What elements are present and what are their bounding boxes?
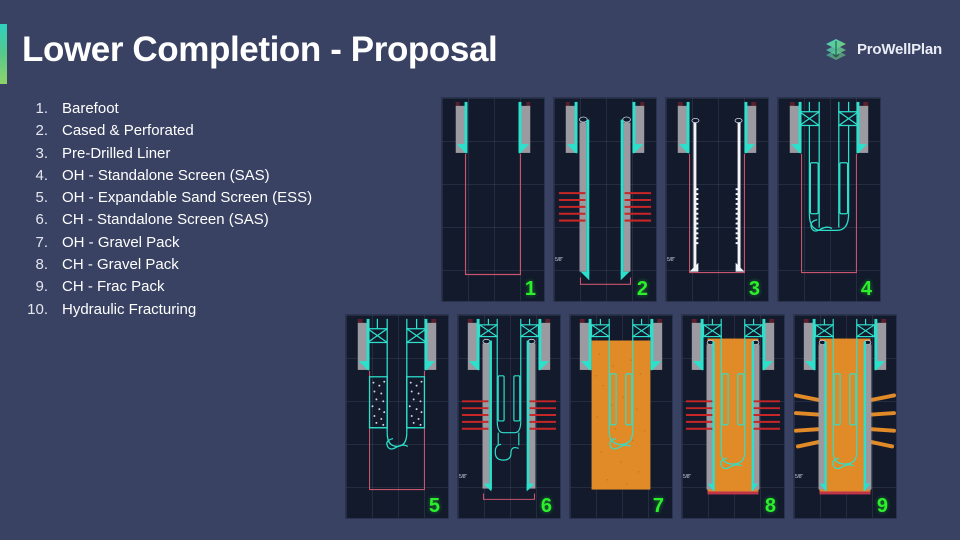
diagram-row-top: 1 — [441, 97, 881, 302]
panel-number: 7 — [653, 496, 664, 516]
panel-number: 6 — [541, 496, 552, 516]
list-item[interactable]: 9.CH - Frac Pack — [22, 278, 422, 300]
list-item-number: 10. — [22, 301, 62, 318]
diagram-panel-barefoot[interactable]: 1 — [441, 97, 545, 302]
panel-number: 4 — [861, 279, 872, 299]
list-item-label: OH - Expandable Sand Screen (ESS) — [62, 189, 312, 206]
list-item[interactable]: 1.Barefoot — [22, 100, 422, 122]
list-item-number: 8. — [22, 256, 62, 273]
title-accent-bar — [0, 24, 7, 84]
diagram-panel-ch-frac-pack[interactable]: 5/8" 9 — [793, 314, 897, 519]
list-item-number: 6. — [22, 211, 62, 228]
wellbore-schematic-oh-gravel-pack — [570, 315, 672, 516]
wellbore-schematic-ch-sas — [458, 315, 560, 516]
logo-text: ProWellPlan — [857, 41, 942, 58]
panel-number: 3 — [749, 279, 760, 299]
wellbore-schematic-ch-frac-pack — [794, 315, 896, 516]
list-item[interactable]: 2.Cased & Perforated — [22, 122, 422, 144]
list-item-number: 9. — [22, 278, 62, 295]
list-item-number: 1. — [22, 100, 62, 117]
list-item-label: CH - Gravel Pack — [62, 256, 179, 273]
list-item[interactable]: 5.OH - Expandable Sand Screen (ESS) — [22, 189, 422, 211]
panel-number: 1 — [525, 279, 536, 299]
panel-number: 9 — [877, 496, 888, 516]
completion-options-list: 1.Barefoot 2.Cased & Perforated 3.Pre-Dr… — [22, 100, 422, 323]
wellbore-schematic-barefoot — [442, 98, 544, 299]
page-title: Lower Completion - Proposal — [22, 30, 497, 70]
panel-number: 8 — [765, 496, 776, 516]
list-item-label: CH - Standalone Screen (SAS) — [62, 211, 269, 228]
diagram-panel-cased-perforated[interactable]: 5/8" 2 — [553, 97, 657, 302]
casing-size-label: 5/8" — [667, 257, 675, 263]
diagram-panel-oh-expandable-sand-screen[interactable]: 5 — [345, 314, 449, 519]
casing-size-label: 5/8" — [683, 474, 691, 480]
list-item[interactable]: 6.CH - Standalone Screen (SAS) — [22, 211, 422, 233]
list-item-label: OH - Standalone Screen (SAS) — [62, 167, 270, 184]
diagram-panel-pre-drilled-liner[interactable]: 5/8" 3 — [665, 97, 769, 302]
panel-number: 2 — [637, 279, 648, 299]
list-item[interactable]: 3.Pre-Drilled Liner — [22, 145, 422, 167]
casing-size-label: 5/8" — [795, 474, 803, 480]
list-item[interactable]: 8.CH - Gravel Pack — [22, 256, 422, 278]
list-item-label: Pre-Drilled Liner — [62, 145, 170, 162]
casing-size-label: 5/8" — [555, 257, 563, 263]
wellbore-schematic-pre-drilled-liner — [666, 98, 768, 299]
list-item[interactable]: 4.OH - Standalone Screen (SAS) — [22, 167, 422, 189]
panel-number: 5 — [429, 496, 440, 516]
list-item-number: 2. — [22, 122, 62, 139]
diagram-panel-oh-standalone-screen[interactable]: 4 — [777, 97, 881, 302]
diagram-panel-ch-standalone-screen[interactable]: 5/8" 6 — [457, 314, 561, 519]
diagram-panel-ch-gravel-pack[interactable]: 5/8" 8 — [681, 314, 785, 519]
list-item-label: Barefoot — [62, 100, 119, 117]
diagram-row-bottom: 5 — [345, 314, 897, 519]
wellbore-schematic-cased-perforated — [554, 98, 656, 299]
wellbore-schematic-oh-ess — [346, 315, 448, 516]
list-item-label: Cased & Perforated — [62, 122, 194, 139]
wellbore-schematic-ch-gravel-pack — [682, 315, 784, 516]
casing-size-label: 5/8" — [459, 474, 467, 480]
list-item-label: Hydraulic Fracturing — [62, 301, 196, 318]
list-item-number: 7. — [22, 234, 62, 251]
list-item-label: OH - Gravel Pack — [62, 234, 180, 251]
wellbore-schematic-oh-sas — [778, 98, 880, 299]
diagram-panel-oh-gravel-pack[interactable]: 7 — [569, 314, 673, 519]
list-item-number: 5. — [22, 189, 62, 206]
list-item-label: CH - Frac Pack — [62, 278, 165, 295]
stacked-layers-icon — [823, 36, 849, 62]
list-item[interactable]: 7.OH - Gravel Pack — [22, 234, 422, 256]
prowellplan-logo: ProWellPlan — [823, 36, 942, 62]
list-item-number: 4. — [22, 167, 62, 184]
list-item-number: 3. — [22, 145, 62, 162]
